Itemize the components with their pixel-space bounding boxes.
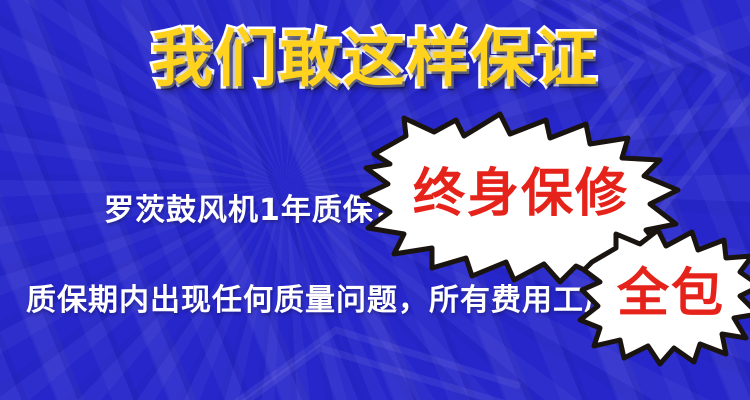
warranty-line-2: 质保期内出现任何质量问题，所有费用工厂 bbox=[26, 286, 615, 316]
page-title: 我们敢这样保证 bbox=[0, 28, 750, 90]
badge-all-inclusive-label: 全包 bbox=[580, 268, 750, 320]
badge-all-inclusive: 全包 bbox=[580, 228, 750, 370]
badge-lifetime-warranty-label: 终身保修 bbox=[360, 168, 682, 220]
promo-banner: 我们敢这样保证 罗茨鼓风机1年质保， 质保期内出现任何质量问题，所有费用工厂 终… bbox=[0, 0, 750, 400]
